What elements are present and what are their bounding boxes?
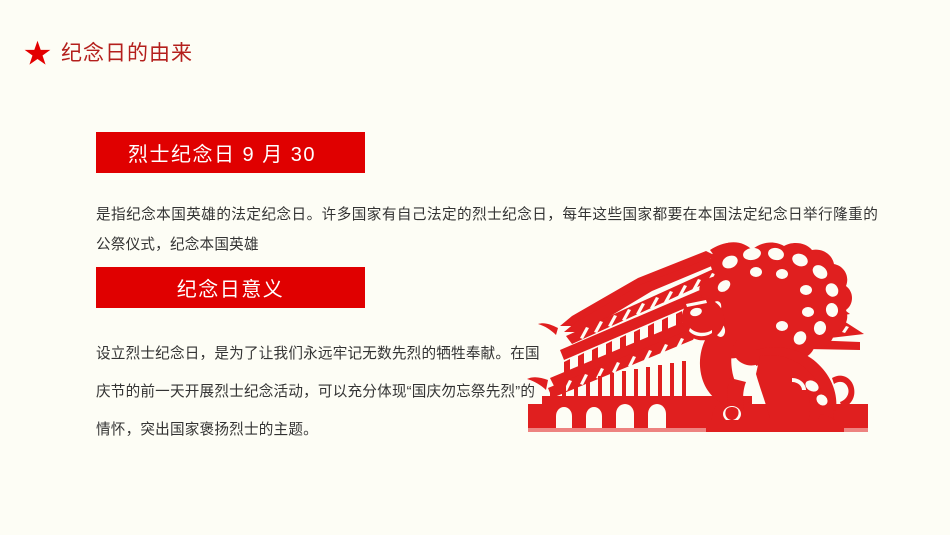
section-banner-anniversary-meaning: 纪念日意义 (96, 267, 365, 308)
page-title: 纪念日的由来 (61, 40, 193, 67)
banner-label: 烈士纪念日 9 月 30 (128, 138, 316, 167)
section-body-anniversary-meaning: 设立烈士纪念日，是为了让我们永远牢记无数先烈的牺牲奉献。在国庆节的前一天开展烈士… (96, 335, 546, 449)
section-banner-anniversary-date: 烈士纪念日 9 月 30 (96, 132, 365, 173)
section-body-anniversary-date: 是指纪念本国英雄的法定纪念日。许多国家有自己法定的烈士纪念日，每年这些国家都要在… (96, 200, 878, 260)
red-star-icon (24, 40, 51, 67)
banner-label: 纪念日意义 (177, 273, 285, 302)
slide-canvas: 纪念日的由来 烈士纪念日 9 月 30 是指纪念本国英雄的法定纪念日。许多国家有… (0, 0, 950, 535)
tiananmen-gate-with-stone-lion-papercut-icon (520, 238, 880, 438)
slide-header: 纪念日的由来 (24, 36, 193, 70)
